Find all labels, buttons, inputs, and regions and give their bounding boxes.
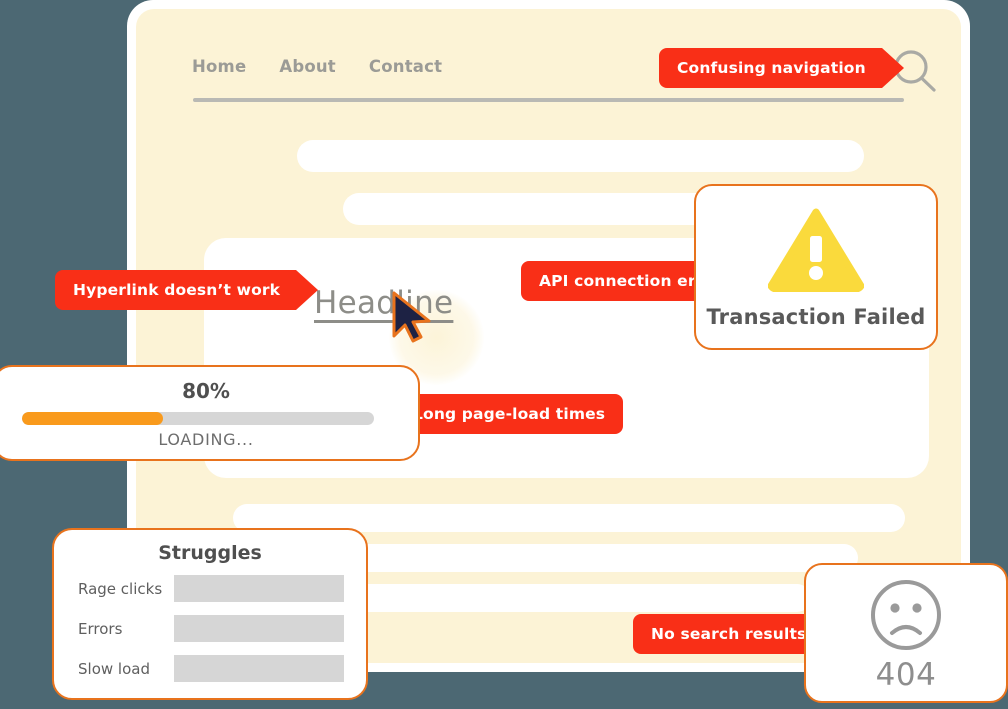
- struggles-title: Struggles: [54, 542, 366, 564]
- flag-label: Confusing navigation: [677, 59, 866, 77]
- mouse-pointer-icon: [390, 291, 436, 345]
- struggles-bar-chart: Rage clicks Errors Slow load: [78, 575, 344, 695]
- scene: Home About Contact Headline: [0, 0, 1008, 709]
- loading-progress-card: 80% LOADING...: [0, 365, 420, 461]
- error-code-text: 404: [806, 657, 1006, 693]
- flag-hyperlink-broken[interactable]: Hyperlink doesn’t work: [55, 270, 296, 310]
- flag-label: No search results: [651, 625, 806, 643]
- struggles-row-label: Errors: [78, 620, 174, 638]
- transaction-failed-card: Transaction Failed: [694, 184, 938, 350]
- nav-divider: [193, 98, 904, 102]
- struggles-row-label: Rage clicks: [78, 580, 174, 598]
- struggles-row-track: [174, 655, 344, 682]
- struggles-row-track: [174, 575, 344, 602]
- not-found-card: 404: [804, 563, 1008, 703]
- loading-status-label: LOADING...: [0, 430, 418, 449]
- flag-no-search-results[interactable]: No search results: [633, 614, 822, 654]
- struggles-card: Struggles Rage clicks Errors Slow load: [52, 528, 368, 700]
- warning-triangle-icon: [768, 208, 864, 292]
- nav-item-about[interactable]: About: [279, 57, 336, 76]
- flag-label: Hyperlink doesn’t work: [73, 281, 280, 299]
- skeleton-bar-1: [297, 140, 864, 172]
- nav-item-home[interactable]: Home: [192, 57, 246, 76]
- struggles-row-track: [174, 615, 344, 642]
- progress-bar-track: [22, 412, 374, 425]
- sad-face-icon: [868, 577, 944, 653]
- struggles-row-label: Slow load: [78, 660, 174, 678]
- nav-item-contact[interactable]: Contact: [369, 57, 442, 76]
- navigation-bar: Home About Contact: [192, 57, 442, 76]
- flag-confusing-navigation[interactable]: Confusing navigation: [659, 48, 882, 88]
- transaction-status-text: Transaction Failed: [696, 305, 936, 329]
- struggles-row: Errors: [78, 615, 344, 642]
- progress-bar-fill: [22, 412, 163, 425]
- flag-label: Long page-load times: [413, 405, 605, 423]
- struggles-row: Rage clicks: [78, 575, 344, 602]
- progress-percent-label: 80%: [0, 379, 418, 403]
- flag-long-page-load[interactable]: Long page-load times: [397, 394, 623, 434]
- struggles-row: Slow load: [78, 655, 344, 682]
